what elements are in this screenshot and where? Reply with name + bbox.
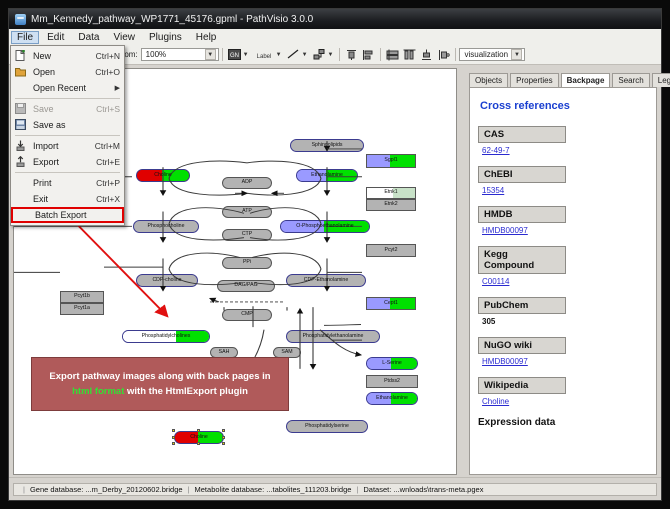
metabolite-node-label: L-Serine xyxy=(382,361,402,366)
metabolite-node-label: Phosphocholine xyxy=(148,224,185,229)
line-tool-icon[interactable] xyxy=(286,48,301,62)
import-icon xyxy=(15,140,28,152)
gene-node-label: Etnk2 xyxy=(384,202,397,207)
tab-objects[interactable]: Objects xyxy=(469,73,508,87)
chevron-down-icon-2[interactable]: ▼ xyxy=(511,49,522,60)
callout-highlight: html format xyxy=(72,386,124,397)
xref-source-nugo-wiki: NuGO wiki xyxy=(478,337,566,354)
align-left-icon[interactable] xyxy=(361,48,376,62)
file-menu-item-export[interactable]: ExportCtrl+E xyxy=(11,154,124,170)
label-dropdown-icon[interactable]: ▼ xyxy=(276,52,282,58)
metabolite-node-label: PPi xyxy=(243,260,251,265)
file-menu-item-label: New xyxy=(33,51,96,61)
metabolite-node-label: CDP-Ethanolamine xyxy=(304,278,348,283)
gene-node-label: Pcyt2 xyxy=(385,248,398,253)
xref-value-cas[interactable]: 62-49-7 xyxy=(482,146,648,155)
chevron-down-icon[interactable]: ▼ xyxy=(205,49,216,60)
zoom-combo[interactable]: 100% ▼ xyxy=(141,48,219,61)
new-file-icon xyxy=(15,50,28,62)
menu-help[interactable]: Help xyxy=(190,31,223,44)
tab-properties[interactable]: Properties xyxy=(510,73,558,87)
app-icon xyxy=(15,14,26,25)
xref-value-pubchem: 305 xyxy=(482,317,648,326)
export-icon xyxy=(15,156,28,168)
gene-node-label: Ptdss2 xyxy=(384,379,400,384)
menu-separator xyxy=(15,172,120,173)
folder-open-icon xyxy=(15,66,28,78)
file-menu-item-accelerator: Ctrl+O xyxy=(95,67,120,77)
file-menu-item-label: Save xyxy=(33,104,96,114)
toolbar-separator xyxy=(222,48,223,61)
distribute-icon[interactable] xyxy=(419,48,434,62)
menu-item-no-icon xyxy=(15,82,28,94)
side-panel: Objects Properties Backpage Search Legen… xyxy=(461,68,657,475)
label-tool-icon[interactable]: Label xyxy=(253,48,275,62)
backpage-content: Cross references CAS62-49-7ChEBI15354HMD… xyxy=(469,87,657,475)
metabolite-node-label: Choline xyxy=(190,435,208,440)
gene-node-label: Pcyt1a xyxy=(74,306,90,311)
side-panel-tabs: Objects Properties Backpage Search Legen… xyxy=(469,72,657,87)
metabolite-node-label: Phosphatidylethanolamine xyxy=(303,334,364,339)
save-as-icon xyxy=(15,119,28,131)
menu-separator xyxy=(15,98,120,99)
common-height-icon[interactable] xyxy=(436,48,451,62)
submenu-arrow-icon: ▶ xyxy=(115,84,120,92)
file-menu-popup[interactable]: NewCtrl+NOpenCtrl+OOpen Recent▶SaveCtrl+… xyxy=(10,45,125,226)
pathvisio-window: Mm_Kennedy_pathway_WP1771_45176.gpml - P… xyxy=(8,8,662,501)
file-menu-item-open-recent[interactable]: Open Recent▶ xyxy=(11,80,124,96)
tab-search[interactable]: Search xyxy=(612,73,649,87)
metabolite-node-label: CMP xyxy=(241,312,253,317)
status-bar-inner: | Gene database: ...m_Derby_20120602.bri… xyxy=(13,483,657,496)
metabolite-node-label: CDP-choline xyxy=(152,278,181,283)
svg-text:GN: GN xyxy=(230,53,239,59)
metabolite-node-label: Phosphatidylserine xyxy=(305,424,349,429)
menu-item-no-icon xyxy=(17,209,30,221)
file-menu-item-save: SaveCtrl+S xyxy=(11,101,124,117)
status-dataset: Dataset: ...wnloads\trans-meta.pgex xyxy=(363,485,483,494)
status-divider-2: | xyxy=(356,485,358,494)
metabolite-node-label: Sphingolipids xyxy=(312,143,343,148)
file-menu-item-accelerator: Ctrl+S xyxy=(96,104,120,114)
xref-value-wikipedia[interactable]: Choline xyxy=(482,397,648,406)
status-gene-database: Gene database: ...m_Derby_20120602.bridg… xyxy=(30,485,183,494)
xref-value-nugo-wiki[interactable]: HMDB00097 xyxy=(482,357,648,366)
file-menu-item-label: Open Recent xyxy=(33,83,115,93)
xref-source-wikipedia: Wikipedia xyxy=(478,377,566,394)
xref-source-hmdb: HMDB xyxy=(478,206,566,223)
callout-text-after: with the HtmlExport plugin xyxy=(124,386,248,397)
file-menu-item-open[interactable]: OpenCtrl+O xyxy=(11,64,124,80)
gene-node-label: Etnk1 xyxy=(384,190,397,195)
callout-text: Export pathway images along with back pa… xyxy=(40,369,280,399)
file-menu-item-save-as[interactable]: Save as xyxy=(11,117,124,133)
cross-references-list: CAS62-49-7ChEBI15354HMDBHMDB00097Kegg Co… xyxy=(478,126,648,406)
metabolite-node-label: CTP xyxy=(242,232,252,237)
metabolite-node-label: SAM xyxy=(281,350,292,355)
toolbar-separator-4 xyxy=(455,48,456,61)
status-divider-0: | xyxy=(23,485,25,494)
svg-text:Label: Label xyxy=(256,54,271,60)
menu-file[interactable]: File xyxy=(11,31,39,44)
file-menu-item-label: Print xyxy=(33,178,96,188)
status-bar: | Gene database: ...m_Derby_20120602.bri… xyxy=(9,477,661,500)
metabolite-node-label: Choline xyxy=(154,173,172,178)
cross-references-heading: Cross references xyxy=(480,100,648,112)
status-divider-1: | xyxy=(188,485,190,494)
toolbar-separator-2 xyxy=(339,48,340,61)
title-bar: Mm_Kennedy_pathway_WP1771_45176.gpml - P… xyxy=(9,9,661,29)
xref-source-cas: CAS xyxy=(478,126,566,143)
tab-backpage[interactable]: Backpage xyxy=(561,73,611,88)
line-dropdown-icon[interactable]: ▼ xyxy=(302,52,308,58)
align-top-icon[interactable] xyxy=(344,48,359,62)
toolbar-separator-3 xyxy=(380,48,381,61)
common-width-icon[interactable] xyxy=(402,48,417,62)
xref-value-kegg-compound[interactable]: C00114 xyxy=(482,277,648,286)
metabolite-node-label: ATP xyxy=(242,209,252,214)
zoom-value: 100% xyxy=(144,50,205,59)
menu-plugins[interactable]: Plugins xyxy=(143,31,188,44)
menu-item-no-icon xyxy=(15,177,28,189)
metabolite-node-label: SAH xyxy=(219,350,230,355)
menu-edit[interactable]: Edit xyxy=(41,31,70,44)
menu-bar: File Edit Data View Plugins Help xyxy=(9,29,661,46)
tab-legend[interactable]: Legend xyxy=(652,73,670,87)
menu-view[interactable]: View xyxy=(107,31,141,44)
file-menu-item-accelerator: Ctrl+P xyxy=(96,178,120,188)
file-menu-item-label: Batch Export xyxy=(35,210,118,220)
screenshot-root: Mm_Kennedy_pathway_WP1771_45176.gpml - P… xyxy=(0,0,670,509)
visualization-combo[interactable]: visualization ▼ xyxy=(459,48,525,61)
file-menu-item-import[interactable]: ImportCtrl+M xyxy=(11,138,124,154)
file-menu-item-accelerator: Ctrl+E xyxy=(96,157,120,167)
visualization-value: visualization xyxy=(462,50,511,59)
metabolite-node-label: Ethanolamine xyxy=(311,173,343,178)
metabolite-node-label: DAG/PAG xyxy=(234,283,257,288)
save-icon xyxy=(15,103,28,115)
menu-separator xyxy=(15,135,120,136)
file-menu-item-label: Open xyxy=(33,67,95,77)
xref-source-chebi: ChEBI xyxy=(478,166,566,183)
expression-data-heading: Expression data xyxy=(478,417,648,428)
file-menu-item-print[interactable]: PrintCtrl+P xyxy=(11,175,124,191)
callout-text-before: Export pathway images along with back pa… xyxy=(49,371,270,382)
stack-vertical-icon[interactable] xyxy=(385,48,400,62)
gene-node-label: Cept1 xyxy=(384,301,398,306)
datanode-dropdown-icon[interactable]: ▼ xyxy=(243,52,249,58)
file-menu-item-accelerator: Ctrl+M xyxy=(95,141,120,151)
file-menu-item-batch-export[interactable]: Batch Export xyxy=(11,207,124,223)
xref-source-kegg-compound: Kegg Compound xyxy=(478,246,566,274)
file-menu-item-label: Import xyxy=(33,141,95,151)
gene-node-label: Sgpl1 xyxy=(384,158,397,163)
xref-source-pubchem: PubChem xyxy=(478,297,566,314)
file-menu-item-label: Save as xyxy=(33,120,120,130)
gene-node-label: Pcyt1b xyxy=(74,294,90,299)
interaction-dropdown-icon[interactable]: ▼ xyxy=(328,52,334,58)
file-menu-item-accelerator: Ctrl+N xyxy=(96,51,120,61)
datanode-tool-icon[interactable]: GN xyxy=(227,48,242,62)
metabolite-node-label: ADP xyxy=(242,180,253,185)
metabolite-node-label: Ethanolamine xyxy=(376,396,408,401)
menu-data[interactable]: Data xyxy=(72,31,105,44)
window-title: Mm_Kennedy_pathway_WP1771_45176.gpml - P… xyxy=(31,14,313,25)
metabolite-node-label: O-Phosphoethanolamine xyxy=(296,224,353,229)
file-menu-item-accelerator: Ctrl+X xyxy=(96,194,120,204)
file-menu-item-label: Exit xyxy=(33,194,96,204)
status-metabolite-database: Metabolite database: ...tabolites_111203… xyxy=(195,485,352,494)
file-menu-item-new[interactable]: NewCtrl+N xyxy=(11,48,124,64)
metabolite-node-label: Phosphatidylcholines xyxy=(142,334,191,339)
annotation-callout: Export pathway images along with back pa… xyxy=(31,357,289,411)
xref-value-chebi[interactable]: 15354 xyxy=(482,186,648,195)
file-menu-item-label: Export xyxy=(33,157,96,167)
interaction-tool-icon[interactable] xyxy=(312,48,327,62)
file-menu-item-exit[interactable]: ExitCtrl+X xyxy=(11,191,124,207)
menu-item-no-icon xyxy=(15,193,28,205)
xref-value-hmdb[interactable]: HMDB00097 xyxy=(482,226,648,235)
